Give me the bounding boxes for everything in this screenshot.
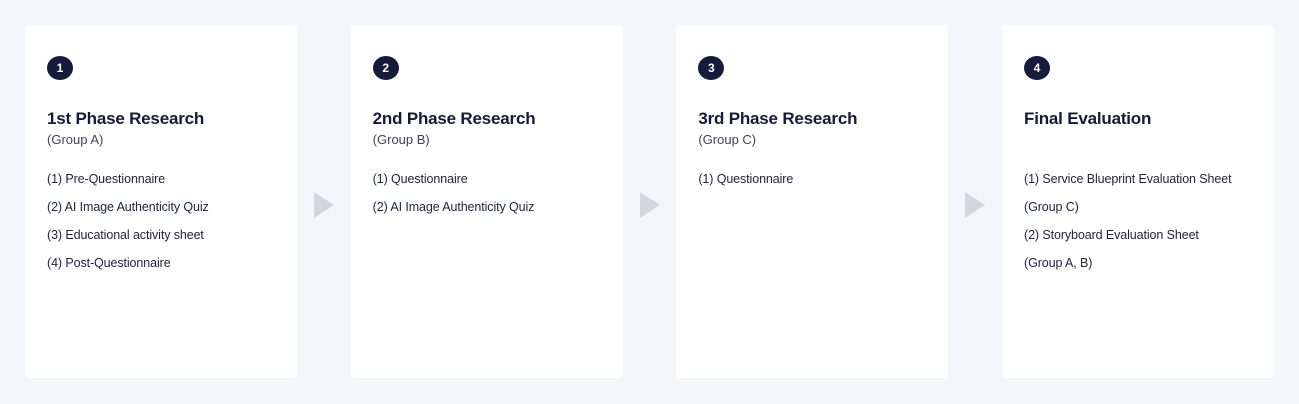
list-item: (Group A, B) [1024, 255, 1252, 272]
phase-card-4[interactable]: 4 Final Evaluation (1) Service Blueprint… [1002, 25, 1274, 378]
phase-flow-diagram: 1 1st Phase Research (Group A) (1) Pre-Q… [0, 0, 1299, 404]
list-item: (Group C) [1024, 199, 1252, 216]
phase-card-list-1: (1) Pre-Questionnaire (2) AI Image Authe… [47, 171, 275, 272]
phase-card-list-2: (1) Questionnaire (2) AI Image Authentic… [373, 171, 601, 216]
list-item: (3) Educational activity sheet [47, 227, 275, 244]
phase-card-2[interactable]: 2 2nd Phase Research (Group B) (1) Quest… [351, 25, 623, 378]
phase-card-title-4: Final Evaluation [1024, 108, 1252, 129]
list-item: (2) Storyboard Evaluation Sheet [1024, 227, 1252, 244]
list-item: (4) Post-Questionnaire [47, 255, 275, 272]
flow-arrow-1 [297, 25, 351, 378]
phase-card-list-4: (1) Service Blueprint Evaluation Sheet (… [1024, 171, 1252, 272]
chevron-right-triangle-icon [965, 192, 985, 218]
list-item: (1) Pre-Questionnaire [47, 171, 275, 188]
phase-card-1[interactable]: 1 1st Phase Research (Group A) (1) Pre-Q… [25, 25, 297, 378]
phase-card-subtitle-2: (Group B) [373, 131, 601, 149]
list-item: (1) Questionnaire [373, 171, 601, 188]
phase-card-3[interactable]: 3 3rd Phase Research (Group C) (1) Quest… [676, 25, 948, 378]
chevron-right-triangle-icon [640, 192, 660, 218]
phase-card-subtitle-4 [1024, 131, 1252, 149]
flow-arrow-2 [623, 25, 677, 378]
phase-card-list-3: (1) Questionnaire [698, 171, 926, 188]
phase-card-subtitle-3: (Group C) [698, 131, 926, 149]
step-badge-1: 1 [47, 56, 73, 80]
step-badge-2: 2 [373, 56, 399, 80]
flow-arrow-3 [948, 25, 1002, 378]
chevron-right-triangle-icon [314, 192, 334, 218]
phase-card-title-2: 2nd Phase Research [373, 108, 601, 129]
phase-card-title-1: 1st Phase Research [47, 108, 275, 129]
step-badge-3: 3 [698, 56, 724, 80]
list-item: (2) AI Image Authenticity Quiz [47, 199, 275, 216]
list-item: (1) Questionnaire [698, 171, 926, 188]
step-badge-4: 4 [1024, 56, 1050, 80]
phase-card-subtitle-1: (Group A) [47, 131, 275, 149]
phase-card-title-3: 3rd Phase Research [698, 108, 926, 129]
list-item: (1) Service Blueprint Evaluation Sheet [1024, 171, 1252, 188]
list-item: (2) AI Image Authenticity Quiz [373, 199, 601, 216]
